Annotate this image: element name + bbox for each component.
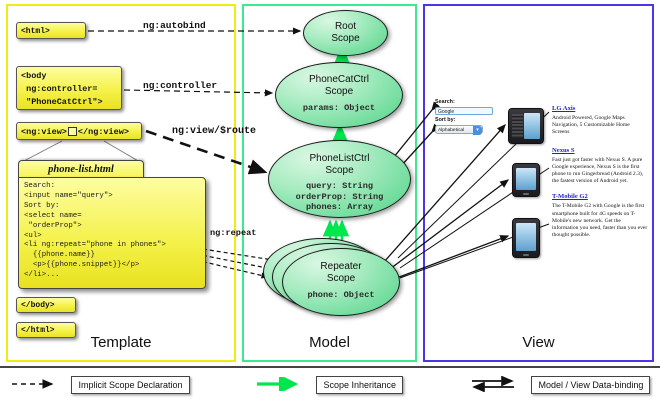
legend-item-databinding: Model / View Data-binding [470, 375, 650, 393]
code-box-ngview: <ng:view></ng:view> [16, 122, 142, 140]
view-search-controls: Search: Google Sort by: Alphabetical▾ [435, 99, 497, 134]
phone-screen [524, 113, 540, 139]
phone-name-link[interactable]: LG Axis [552, 104, 648, 113]
phone-keyboard [512, 114, 523, 138]
double-arrow-icon [470, 376, 522, 392]
ngview-open-tag: <ng:view> [21, 127, 67, 137]
scope-phonelistctrl: PhoneListCtrl Scope query: String orderP… [268, 140, 411, 218]
sort-label: Sort by: [435, 117, 497, 124]
sort-select-value: Alphabetical [438, 128, 464, 133]
phone-snippet: The T-Mobile G2 with Google is the first… [552, 203, 648, 239]
search-label: Search: [435, 99, 497, 106]
ngview-close-tag: </ng:view> [78, 127, 129, 137]
scope-repeater: Repeater Scope phone: Object [282, 248, 400, 316]
label-ng-repeat: ng:repeat [210, 228, 256, 238]
code-box-html-open: <html> [16, 22, 86, 39]
scope-repeater-props: phone: Object [283, 290, 399, 301]
green-arrow-icon [255, 377, 307, 391]
phone-screen [516, 168, 536, 190]
chevron-down-icon: ▾ [473, 126, 482, 135]
phone-list-callout: phone-list.html Search: <input name="que… [18, 160, 206, 292]
panel-label-view: View [423, 334, 654, 351]
phone-thumbnail-t-mobile-g2 [512, 218, 540, 258]
phone-name-link[interactable]: T-Mobile G2 [552, 192, 648, 201]
list-item: Nexus S Fast just got faster with Nexus … [552, 146, 648, 186]
panel-label-template: Template [6, 334, 236, 351]
label-ng-view-route: ng:view/$route [172, 126, 256, 137]
phone-screen [516, 223, 536, 251]
phone-snippet: Android Powered, Google Maps Navigation,… [552, 115, 648, 137]
phone-thumbnail-nexus-s [512, 163, 540, 197]
phone-name-link[interactable]: Nexus S [552, 146, 648, 155]
legend-label-inheritance: Scope Inheritance [316, 376, 403, 394]
ngview-placeholder-icon [68, 127, 77, 136]
code-box-body-open: <body ng:controller= "PhoneCatCtrl"> [16, 66, 122, 110]
phone-list: LG Axis Android Powered, Google Maps Nav… [552, 104, 648, 245]
label-ng-controller: ng:controller [143, 80, 217, 91]
scope-repeater-name: Repeater Scope [283, 261, 399, 285]
scope-root: Root Scope [303, 10, 388, 56]
legend-item-inheritance: Scope Inheritance [255, 375, 403, 393]
callout-code: Search: <input name="query"> Sort by: <s… [18, 177, 206, 289]
phone-home-button [523, 193, 529, 195]
scope-phonecatctrl-name: PhoneCatCtrl Scope [276, 74, 402, 98]
phone-snippet: Fast just got faster with Nexus S. A pur… [552, 157, 648, 186]
dashed-arrow-icon [10, 377, 62, 391]
code-box-body-close: </body> [16, 297, 76, 313]
label-ng-autobind: ng:autobind [143, 20, 206, 31]
phone-home-button [523, 254, 529, 256]
legend-label-implicit: Implicit Scope Declaration [71, 376, 189, 394]
scope-root-name: Root Scope [304, 21, 387, 45]
scope-phonecatctrl: PhoneCatCtrl Scope params: Object [275, 62, 403, 128]
scope-phonelistctrl-props: query: String orderProp: String phones: … [269, 181, 410, 213]
legend-divider [0, 366, 660, 368]
phone-thumbnail-lg-axis [508, 108, 544, 144]
legend: Implicit Scope Declaration Scope Inherit… [0, 371, 660, 405]
list-item: LG Axis Android Powered, Google Maps Nav… [552, 104, 648, 137]
panel-label-model: Model [242, 334, 417, 351]
sort-select[interactable]: Alphabetical▾ [435, 125, 483, 134]
legend-label-databinding: Model / View Data-binding [531, 376, 650, 394]
legend-item-implicit: Implicit Scope Declaration [10, 375, 190, 393]
list-item: T-Mobile G2 The T-Mobile G2 with Google … [552, 192, 648, 239]
scope-phonelistctrl-name: PhoneListCtrl Scope [269, 153, 410, 177]
scope-phonecatctrl-props: params: Object [276, 103, 402, 114]
search-input[interactable]: Google [435, 107, 493, 115]
diagram-canvas: <html> <body ng:controller= "PhoneCatCtr… [0, 0, 660, 405]
